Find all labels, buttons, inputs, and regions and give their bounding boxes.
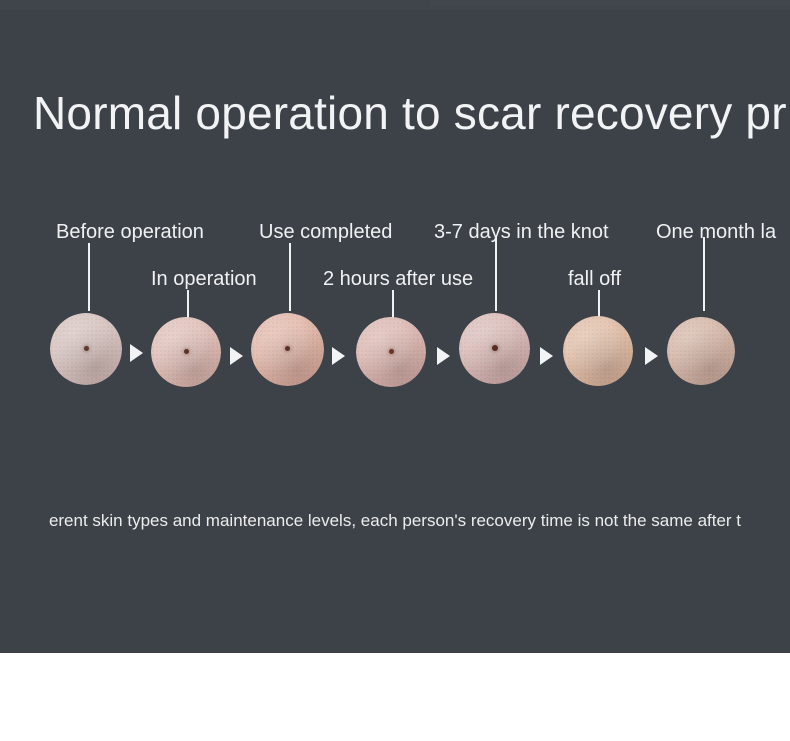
stage-6-skin-shading [563,316,633,386]
stage-2-connector-line [187,290,189,318]
stage-5-skin-photo [459,313,530,384]
stage-7-skin-shading [667,317,735,385]
stage-7-connector-line [703,237,705,311]
stage-1-lesion-marker [84,346,89,351]
stage-6-label: fall off [568,267,621,291]
stage-4-lesion-marker [389,349,394,354]
stage-4-connector-line [392,290,394,318]
stage-5-connector-line [495,237,497,311]
stage-3-label: Use completed [259,220,392,244]
stage-1-connector-line [88,243,90,311]
arrow-3-icon [332,347,345,365]
stage-2-skin-photo [151,317,221,387]
infographic-panel: Normal operation to scar recovery pr Bef… [0,0,790,653]
stage-6-connector-line [598,290,600,318]
stage-4-label: 2 hours after use [323,267,473,291]
stage-3-connector-line [289,243,291,311]
stage-1-skin-photo [50,313,122,385]
stage-5-label: 3-7 days in the knot [434,220,609,244]
stage-4-skin-photo [356,317,426,387]
stage-7-label: One month la [656,220,776,244]
arrow-1-icon [130,344,143,362]
recovery-timeline: Before operationIn operationUse complete… [0,205,790,400]
page-title: Normal operation to scar recovery pr [33,83,787,143]
stage-2-lesion-marker [184,349,189,354]
stage-5-lesion-marker [492,345,498,351]
footer-caption: erent skin types and maintenance levels,… [0,509,790,533]
stage-1-label: Before operation [56,220,204,244]
stage-2-label: In operation [151,267,257,291]
stage-7-skin-photo [667,317,735,385]
arrow-2-icon [230,347,243,365]
top-edge-band-secondary [430,0,790,6]
arrow-6-icon [645,347,658,365]
stage-6-skin-photo [563,316,633,386]
stage-3-lesion-marker [285,346,290,351]
stage-3-skin-photo [251,313,324,386]
arrow-5-icon [540,347,553,365]
arrow-4-icon [437,347,450,365]
